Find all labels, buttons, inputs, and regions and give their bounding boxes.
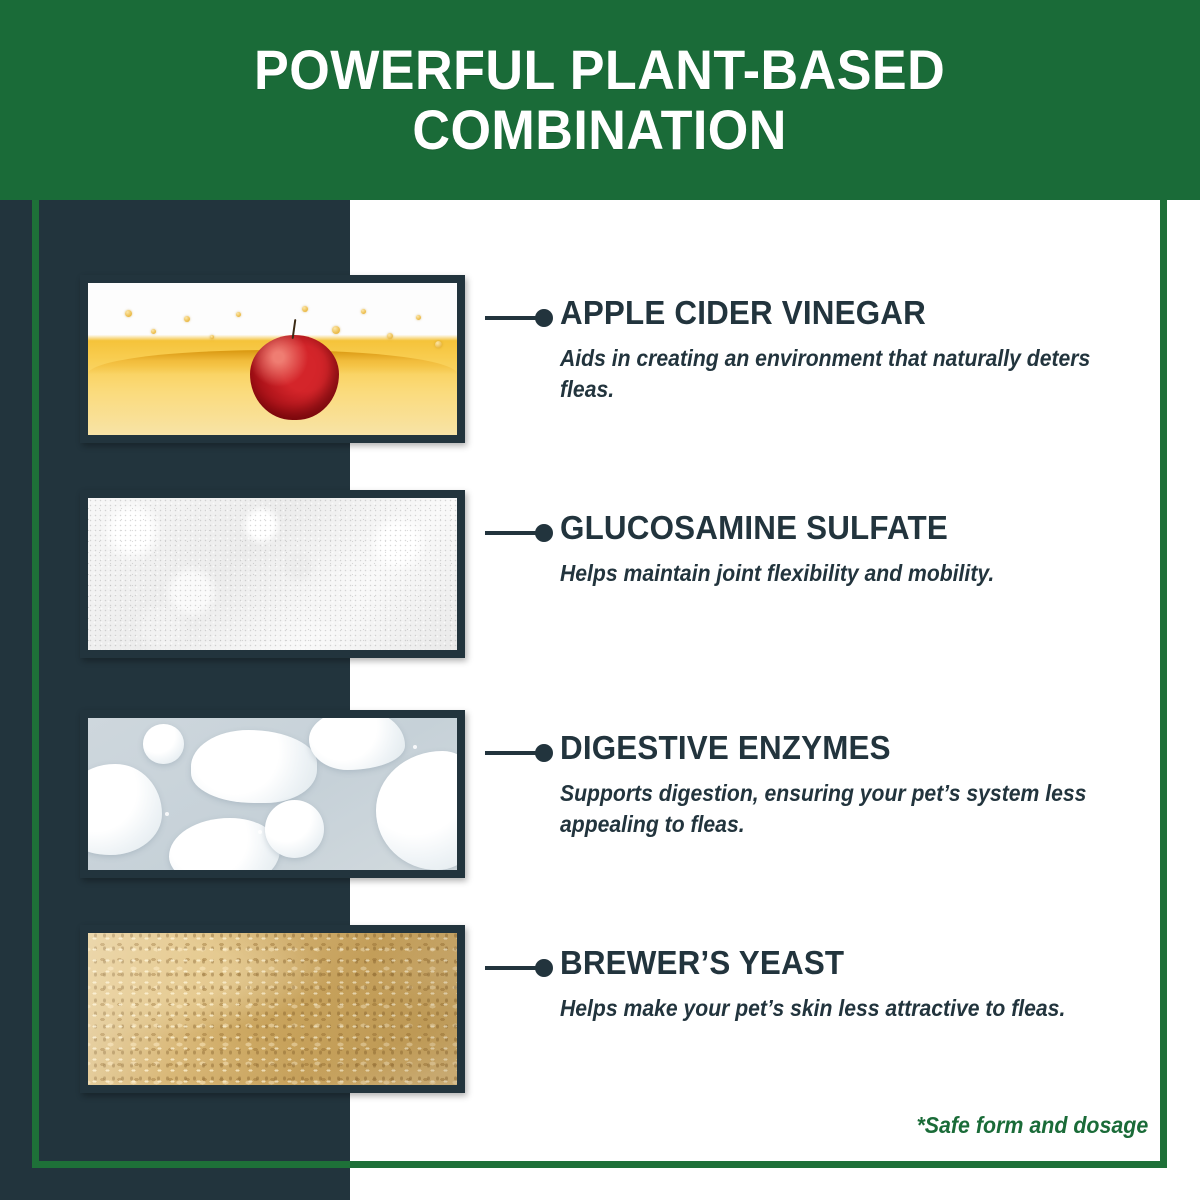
ingredient-row: GLUCOSAMINE SULFATE Helps maintain joint… (0, 490, 1200, 665)
droplet-icon (151, 329, 156, 334)
digestive-enzymes-abstract-blobs-photo (88, 718, 457, 870)
ingredient-description: Helps make your pet’s skin less attracti… (560, 993, 1149, 1024)
ingredient-title: BREWER’S YEAST (560, 946, 1130, 979)
ingredient-title: APPLE CIDER VINEGAR (560, 296, 1130, 329)
connector-dot-icon (535, 959, 553, 977)
content-area: APPLE CIDER VINEGAR Aids in creating an … (0, 200, 1200, 1200)
ingredient-text-column: BREWER’S YEAST Helps make your pet’s ski… (560, 925, 1160, 1024)
connector-line (485, 959, 557, 977)
connector-stroke (485, 966, 540, 970)
ingredient-image-card (80, 275, 465, 443)
ingredient-image-card (80, 710, 465, 878)
droplet-icon (332, 326, 340, 334)
droplet-icon (302, 306, 308, 312)
ingredient-title: DIGESTIVE ENZYMES (560, 731, 1130, 764)
ingredient-row: BREWER’S YEAST Helps make your pet’s ski… (0, 925, 1200, 1100)
footnote-text: *Safe form and dosage (916, 1112, 1148, 1139)
droplet-icon (361, 309, 366, 314)
apple-cider-vinegar-splash-photo (88, 283, 457, 435)
frame-line-bottom (32, 1161, 1167, 1168)
enzyme-blob (191, 730, 316, 803)
ingredient-row: DIGESTIVE ENZYMES Supports digestion, en… (0, 710, 1200, 885)
ingredient-image-card (80, 490, 465, 658)
connector-dot-icon (535, 309, 553, 327)
connector-stroke (485, 316, 540, 320)
connector-stroke (485, 531, 540, 535)
enzyme-blob (143, 724, 184, 764)
droplet-icon (435, 341, 442, 348)
ingredient-description: Supports digestion, ensuring your pet’s … (560, 778, 1149, 840)
powder-grain-texture (88, 498, 457, 650)
ingredient-description: Helps maintain joint flexibility and mob… (560, 558, 1149, 589)
droplet-icon (236, 312, 241, 317)
connector-stroke (485, 751, 540, 755)
glucosamine-white-powder-photo (88, 498, 457, 650)
ingredient-row: APPLE CIDER VINEGAR Aids in creating an … (0, 275, 1200, 450)
ingredient-image-card (80, 925, 465, 1093)
droplet-icon (210, 335, 214, 339)
ingredient-text-column: GLUCOSAMINE SULFATE Helps maintain joint… (560, 490, 1160, 589)
page-title: POWERFUL PLANT-BASED COMBINATION (254, 40, 945, 161)
ingredient-title: GLUCOSAMINE SULFATE (560, 511, 1130, 544)
connector-dot-icon (535, 524, 553, 542)
red-apple-icon (250, 335, 339, 420)
yeast-shading (88, 933, 457, 1085)
header-banner: POWERFUL PLANT-BASED COMBINATION (0, 0, 1200, 200)
ingredient-text-column: APPLE CIDER VINEGAR Aids in creating an … (560, 275, 1160, 405)
enzyme-blob (265, 800, 324, 858)
droplet-icon (387, 333, 393, 339)
connector-dot-icon (535, 744, 553, 762)
connector-line (485, 309, 557, 327)
ingredient-text-column: DIGESTIVE ENZYMES Supports digestion, en… (560, 710, 1160, 840)
ingredient-description: Aids in creating an environment that nat… (560, 343, 1149, 405)
connector-line (485, 524, 557, 542)
brewers-yeast-flakes-photo (88, 933, 457, 1085)
connector-line (485, 744, 557, 762)
